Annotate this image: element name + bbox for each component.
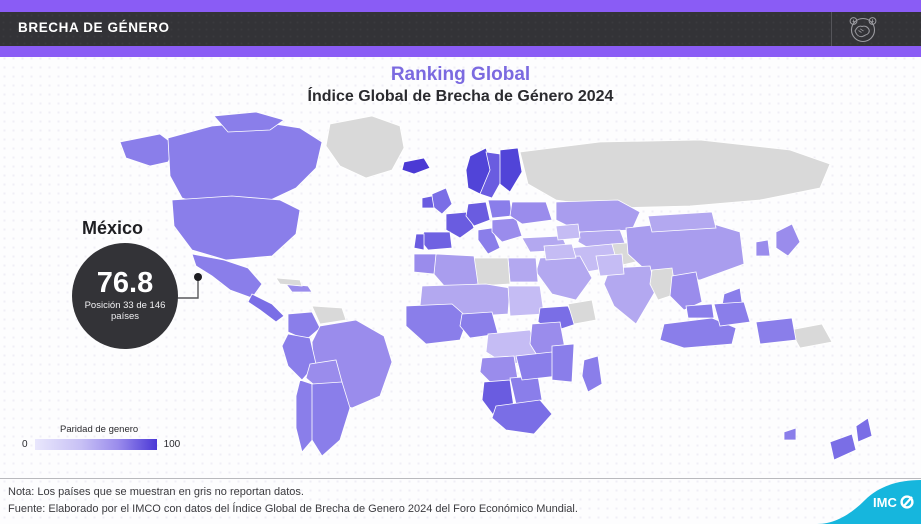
- legend-scale: 0 100: [22, 439, 180, 450]
- handshake-gender-icon: [845, 13, 881, 45]
- region-iraq-syria: [544, 244, 576, 260]
- region-united-kingdom: [432, 188, 452, 214]
- region-saudi-arabia: [536, 256, 592, 300]
- legend-title: Paridad de genero: [60, 424, 138, 435]
- region-libya-no-data: [474, 258, 510, 286]
- region-japan: [776, 224, 800, 256]
- region-borneo: [714, 302, 750, 326]
- region-caucasus: [556, 224, 580, 240]
- region-sudan: [508, 286, 544, 316]
- mexico-score-callout: 76.8 Posición 33 de 146 países: [72, 243, 178, 349]
- region-iceland: [402, 158, 430, 174]
- region-spain: [420, 232, 452, 250]
- svg-text:IMC: IMC: [873, 495, 897, 510]
- callout-rank-text: Posición 33 de 146 países: [72, 301, 178, 323]
- region-new-zealand-south: [830, 434, 856, 460]
- region-finland: [500, 148, 522, 192]
- region-venezuela-no-data: [312, 306, 346, 324]
- region-greenland: [326, 116, 404, 178]
- region-central-america: [248, 294, 284, 322]
- header-bottom-accent-strip: [0, 46, 921, 57]
- region-egypt: [508, 258, 538, 282]
- top-accent-strip: [0, 0, 921, 12]
- region-west-africa: [406, 304, 468, 344]
- region-canada: [168, 122, 322, 208]
- region-russia-no-data: [520, 140, 830, 208]
- region-morocco: [414, 254, 436, 274]
- region-new-zealand-north: [856, 418, 872, 442]
- region-botswana: [510, 376, 542, 404]
- chart-title: Ranking Global: [0, 64, 921, 86]
- imco-logo: IMC: [817, 480, 921, 524]
- gender-gap-slide: BRECHA DE GÉNERO Ranking Global Índice G…: [0, 0, 921, 524]
- region-argentina: [312, 382, 350, 456]
- region-tasmania: [784, 428, 796, 440]
- chart-subtitle: Índice Global de Brecha de Género 2024: [0, 88, 921, 106]
- region-poland: [488, 200, 512, 218]
- region-png-no-data: [790, 324, 832, 348]
- region-cuba-no-data: [276, 278, 302, 286]
- region-mozambique: [552, 344, 574, 382]
- region-papua: [756, 318, 796, 344]
- region-malaysia: [686, 304, 714, 318]
- region-pakistan: [596, 254, 624, 276]
- footer-divider: [0, 478, 921, 479]
- header-divider: [831, 12, 832, 46]
- legend-max-label: 100: [164, 439, 181, 450]
- region-korea: [756, 240, 770, 256]
- region-thailand-vietnam: [670, 272, 702, 310]
- legend-gradient-bar: [35, 439, 157, 450]
- legend-min-label: 0: [22, 439, 28, 450]
- footer-source: Fuente: Elaborado por el IMCO con datos …: [8, 503, 578, 515]
- callout-country-label: México: [82, 218, 143, 239]
- region-united-states: [172, 196, 300, 260]
- region-algeria: [432, 254, 478, 288]
- region-chile: [296, 380, 314, 452]
- region-mexico: [192, 254, 262, 298]
- region-ireland: [422, 196, 434, 208]
- callout-score-value: 76.8: [97, 269, 153, 298]
- header-title: BRECHA DE GÉNERO: [18, 20, 170, 35]
- region-mongolia: [648, 212, 716, 232]
- region-madagascar: [582, 356, 602, 392]
- region-alaska: [120, 134, 176, 166]
- region-portugal: [414, 234, 424, 250]
- region-south-africa: [492, 400, 552, 434]
- footer-note: Nota: Los países que se muestran en gris…: [8, 486, 304, 498]
